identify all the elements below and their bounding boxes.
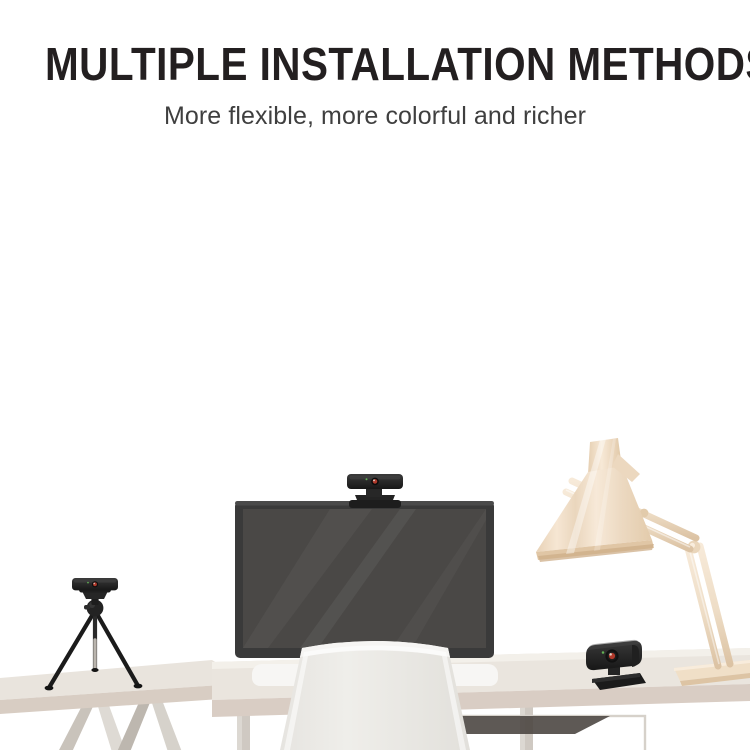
desk-lamp (536, 438, 750, 686)
desk-standing-webcam (586, 640, 646, 690)
desk-webcam-body (586, 640, 642, 670)
workspace-illustration (0, 0, 750, 750)
tripod-ball-head (84, 597, 103, 616)
monitor-clipped-webcam (347, 474, 403, 508)
office-chair (280, 641, 470, 750)
desk-lamp-shade (536, 438, 654, 562)
tripod-webcam-body (72, 578, 118, 590)
desk-lamp-lower-arm (688, 546, 730, 666)
